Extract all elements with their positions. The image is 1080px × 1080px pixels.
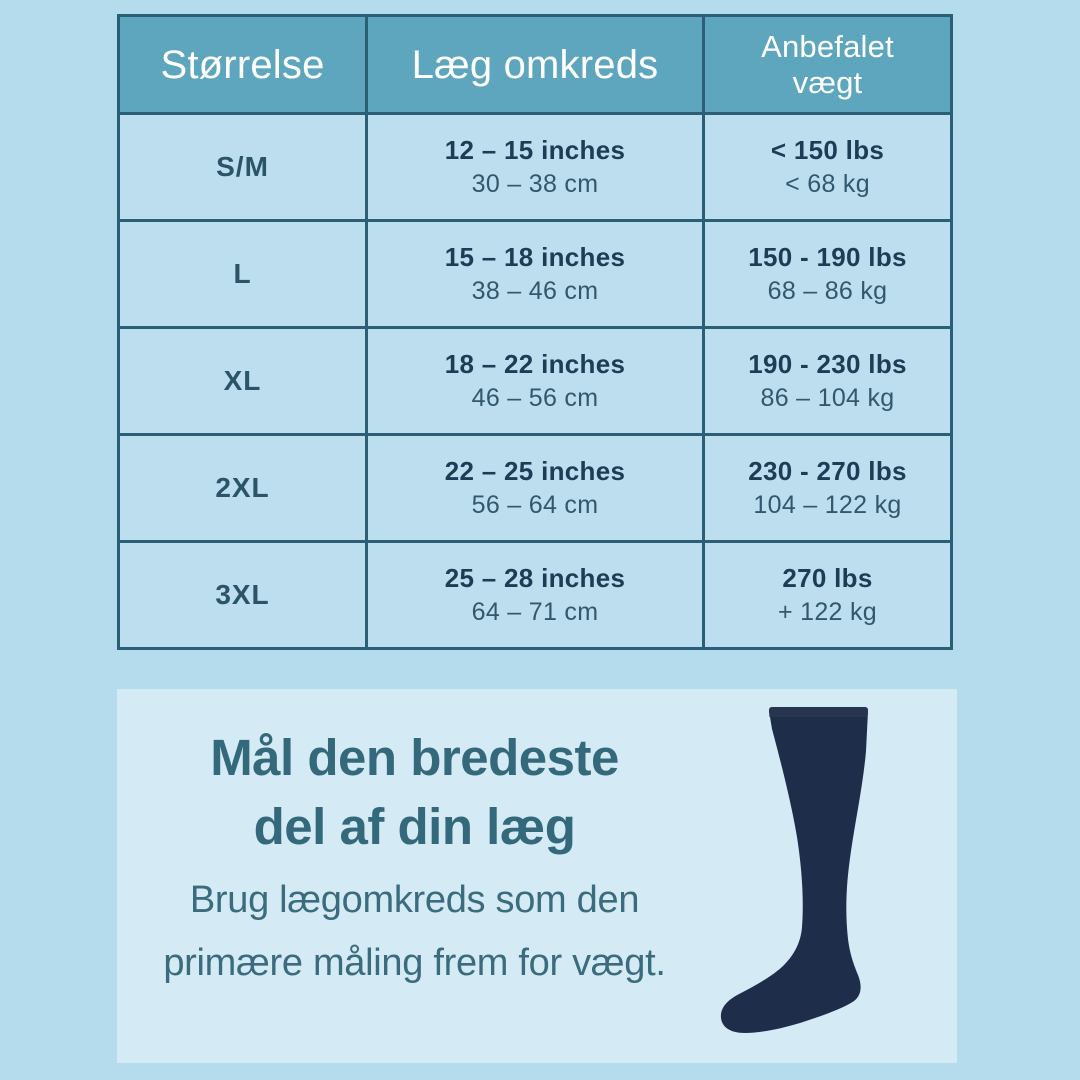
circumference-cm: 46 – 56 cm xyxy=(368,382,702,414)
cell-weight: 150 - 190 lbs 68 – 86 kg xyxy=(704,221,952,328)
measurement-tip-title-line1: Mål den bredeste xyxy=(117,723,712,792)
weight-kg: 68 – 86 kg xyxy=(705,275,950,307)
cell-size: 3XL xyxy=(119,542,367,649)
cell-weight: 190 - 230 lbs 86 – 104 kg xyxy=(704,328,952,435)
cell-circumference: 25 – 28 inches 64 – 71 cm xyxy=(367,542,704,649)
column-header-weight: Anbefalet vægt xyxy=(704,16,952,114)
measurement-tip-panel: Mål den bredeste del af din læg Brug læg… xyxy=(117,689,957,1063)
cell-size: XL xyxy=(119,328,367,435)
weight-lbs: 270 lbs xyxy=(705,562,950,595)
circumference-inches: 12 – 15 inches xyxy=(368,134,702,167)
cell-weight: 270 lbs + 122 kg xyxy=(704,542,952,649)
measurement-tip-subtitle-line2: primære måling frem for vægt. xyxy=(117,939,712,988)
cell-size: L xyxy=(119,221,367,328)
circumference-cm: 64 – 71 cm xyxy=(368,596,702,628)
cell-circumference: 15 – 18 inches 38 – 46 cm xyxy=(367,221,704,328)
cell-circumference: 22 – 25 inches 56 – 64 cm xyxy=(367,435,704,542)
weight-lbs: 230 - 270 lbs xyxy=(705,455,950,488)
table-row: XL 18 – 22 inches 46 – 56 cm 190 - 230 l… xyxy=(119,328,952,435)
table-row: 3XL 25 – 28 inches 64 – 71 cm 270 lbs + … xyxy=(119,542,952,649)
size-label: S/M xyxy=(120,151,365,183)
cell-weight: < 150 lbs < 68 kg xyxy=(704,114,952,221)
size-label: 2XL xyxy=(120,472,365,504)
circumference-inches: 18 – 22 inches xyxy=(368,348,702,381)
table-body: S/M 12 – 15 inches 30 – 38 cm < 150 lbs … xyxy=(119,114,952,649)
circumference-cm: 30 – 38 cm xyxy=(368,168,702,200)
size-label: 3XL xyxy=(120,579,365,611)
cell-circumference: 18 – 22 inches 46 – 56 cm xyxy=(367,328,704,435)
weight-kg: 86 – 104 kg xyxy=(705,382,950,414)
column-header-circumference-label: Læg omkreds xyxy=(368,44,702,86)
weight-kg: < 68 kg xyxy=(705,168,950,200)
table-row: S/M 12 – 15 inches 30 – 38 cm < 150 lbs … xyxy=(119,114,952,221)
cell-size: 2XL xyxy=(119,435,367,542)
column-header-weight-label-line2: vægt xyxy=(705,65,950,101)
measurement-tip-title-line2: del af din læg xyxy=(117,792,712,861)
weight-kg: 104 – 122 kg xyxy=(705,489,950,521)
measurement-tip-subtitle-line1: Brug lægomkreds som den xyxy=(117,876,712,925)
circumference-cm: 38 – 46 cm xyxy=(368,275,702,307)
cell-size: S/M xyxy=(119,114,367,221)
table-header-row: Størrelse Læg omkreds Anbefalet vægt xyxy=(119,16,952,114)
weight-lbs: < 150 lbs xyxy=(705,134,950,167)
circumference-inches: 25 – 28 inches xyxy=(368,562,702,595)
column-header-circumference: Læg omkreds xyxy=(367,16,704,114)
weight-kg: + 122 kg xyxy=(705,596,950,628)
circumference-cm: 56 – 64 cm xyxy=(368,489,702,521)
measurement-tip-text: Mål den bredeste del af din læg Brug læg… xyxy=(117,723,712,989)
size-chart-table: Størrelse Læg omkreds Anbefalet vægt S/M… xyxy=(117,14,953,650)
circumference-inches: 15 – 18 inches xyxy=(368,241,702,274)
circumference-inches: 22 – 25 inches xyxy=(368,455,702,488)
cell-weight: 230 - 270 lbs 104 – 122 kg xyxy=(704,435,952,542)
table-row: 2XL 22 – 25 inches 56 – 64 cm 230 - 270 … xyxy=(119,435,952,542)
column-header-weight-label-line1: Anbefalet xyxy=(705,29,950,65)
weight-lbs: 190 - 230 lbs xyxy=(705,348,950,381)
table-row: L 15 – 18 inches 38 – 46 cm 150 - 190 lb… xyxy=(119,221,952,328)
column-header-size: Størrelse xyxy=(119,16,367,114)
table-header: Størrelse Læg omkreds Anbefalet vægt xyxy=(119,16,952,114)
weight-lbs: 150 - 190 lbs xyxy=(705,241,950,274)
compression-sock-icon xyxy=(712,689,957,1063)
size-label: L xyxy=(120,258,365,290)
size-label: XL xyxy=(120,365,365,397)
column-header-size-label: Størrelse xyxy=(120,44,365,86)
cell-circumference: 12 – 15 inches 30 – 38 cm xyxy=(367,114,704,221)
